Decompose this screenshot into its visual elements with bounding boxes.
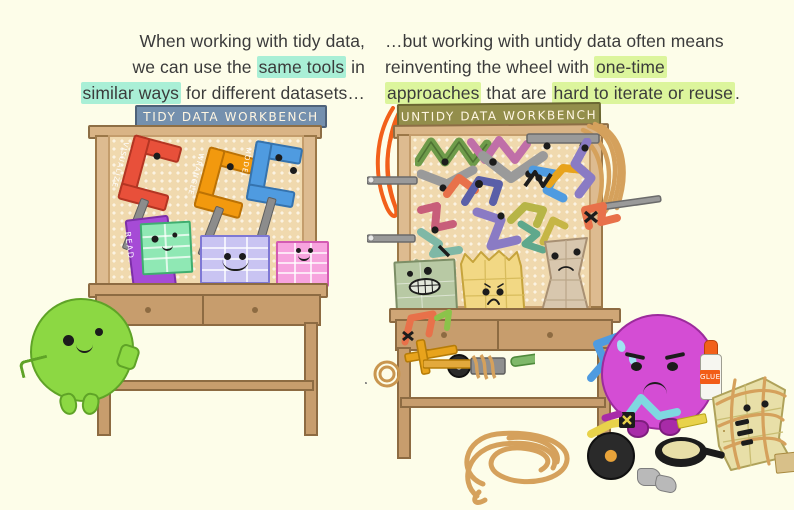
caption-left-line1: When working with tidy data,: [139, 31, 365, 51]
broken-plank-1: [774, 450, 794, 474]
rock-debris-3: [365, 382, 367, 384]
green-blob-monster: [22, 290, 142, 420]
pegboard-peg: [290, 167, 297, 174]
highlight-same-tools: same tools: [257, 56, 347, 78]
data-table-pink: [276, 241, 329, 287]
untidy-data-scene: UNTIDY DATA WORKBENCH: [375, 100, 785, 440]
grey-rod-left-lower: [367, 230, 423, 248]
rock-debris-2: [654, 474, 679, 494]
caption-right: …but working with untidy data often mean…: [385, 28, 785, 106]
read-tool-handle: [40, 105, 47, 147]
caption-right-line2-a: reinventing the wheel with: [385, 57, 594, 77]
highlight-one-time: one-time: [594, 56, 667, 78]
broken-plank-2: [723, 430, 725, 432]
tidy-data-scene: TIDY DATA WORKBENCH VISUALIZE WRANGLE: [40, 105, 360, 435]
grey-rod-left: [367, 172, 423, 190]
small-rope-coil: [373, 358, 407, 392]
workbench-leg-right: [304, 322, 318, 436]
illustration-canvas: When working with tidy data, we can use …: [0, 0, 794, 442]
data-table-green: [140, 221, 194, 276]
broken-orange-clamp: [579, 188, 665, 236]
highlight-similar-ways: similar ways: [81, 82, 181, 104]
caption-right-line1: …but working with untidy data often mean…: [385, 31, 724, 51]
caption-left: When working with tidy data, we can use …: [20, 28, 365, 106]
taped-rod-bundle: [423, 348, 535, 386]
caption-left-line3-b: for different datasets…: [181, 83, 365, 103]
caption-left-line2-a: we can use the: [133, 57, 257, 77]
caption-left-line2-b: in: [346, 57, 365, 77]
bent-tool-black-tangle: [521, 166, 557, 196]
magnifying-glass: [651, 428, 727, 474]
data-table-purple: [200, 235, 270, 284]
